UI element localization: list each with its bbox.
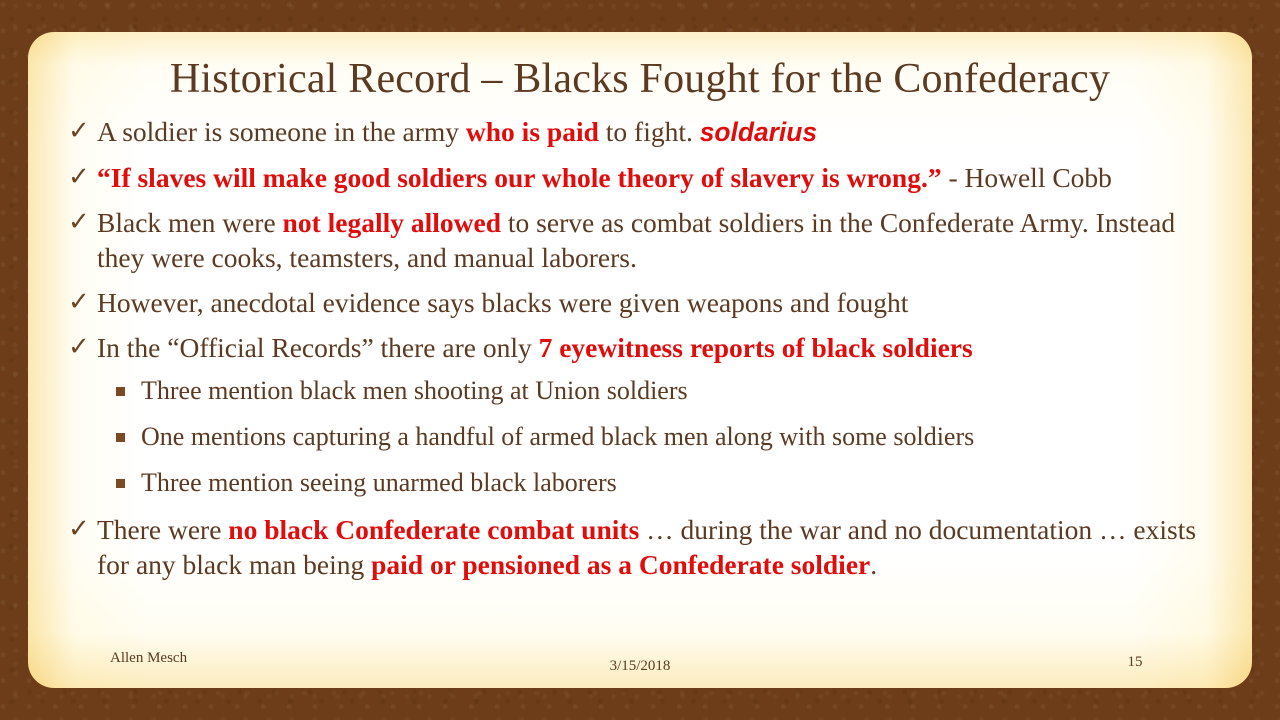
sub-bullet-item: Three mention seeing unarmed black labor… xyxy=(114,466,1218,500)
sub-bullet-label: One mentions capturing a handful of arme… xyxy=(141,422,974,451)
slide-body: ✓A soldier is someone in the army who is… xyxy=(68,114,1218,592)
footer-date: 3/15/2018 xyxy=(0,658,1280,675)
bullet-item-anecdotal-evidence: ✓However, anecdotal evidence says blacks… xyxy=(68,285,1218,320)
sub-bullet-label: Three mention seeing unarmed black labor… xyxy=(141,468,617,497)
bullet-item-not-legally-allowed: ✓Black men were not legally allowed to s… xyxy=(68,205,1218,275)
bullet-item-howell-cobb-quote: ✓“If slaves will make good soldiers our … xyxy=(68,160,1218,195)
checkmark-icon: ✓ xyxy=(68,159,90,194)
checkmark-icon: ✓ xyxy=(68,113,90,148)
bullet-item-no-combat-units: ✓There were no black Confederate combat … xyxy=(68,512,1218,582)
bullet-item-soldier-definition: ✓A soldier is someone in the army who is… xyxy=(68,114,1218,150)
slide-title: Historical Record – Blacks Fought for th… xyxy=(28,54,1252,104)
bullet-text-segment: There were xyxy=(97,514,228,545)
sub-bullet-item: One mentions capturing a handful of arme… xyxy=(114,420,1218,454)
bullet-text-segment: A soldier is someone in the army xyxy=(97,116,466,147)
square-bullet-icon xyxy=(116,387,125,396)
square-bullet-icon xyxy=(116,479,125,488)
slide-number: 15 xyxy=(1108,654,1162,671)
slide-content-panel: Historical Record – Blacks Fought for th… xyxy=(28,32,1252,688)
bullet-text-segment: Black men were xyxy=(97,207,283,238)
sub-bullet-label: Three mention black men shooting at Unio… xyxy=(141,376,688,405)
slide-canvas: Historical Record – Blacks Fought for th… xyxy=(0,0,1280,720)
bullet-highlight-segment: who is paid xyxy=(466,116,599,147)
checkmark-icon: ✓ xyxy=(68,511,90,546)
sub-bullet-item: Three mention black men shooting at Unio… xyxy=(114,374,1218,408)
bullet-quote-segment: “If slaves will make good soldiers our w… xyxy=(97,162,942,193)
bullet-item-official-records: ✓In the “Official Records” there are onl… xyxy=(68,330,1218,365)
checkmark-icon: ✓ xyxy=(68,329,90,364)
bullet-text-segment: to fight. xyxy=(599,116,700,147)
bullet-text-segment: However, anecdotal evidence says blacks … xyxy=(97,287,908,318)
checkmark-icon: ✓ xyxy=(68,284,90,319)
bullet-text-segment: In the “Official Records” there are only xyxy=(97,332,539,363)
bullet-highlight-segment: no black Confederate combat units xyxy=(228,514,639,545)
bullet-attribution-segment: - Howell Cobb xyxy=(942,162,1112,193)
square-bullet-icon xyxy=(116,433,125,442)
bullet-text-segment: . xyxy=(870,549,877,580)
checkmark-icon: ✓ xyxy=(68,204,90,239)
bullet-highlight-segment: paid or pensioned as a Confederate soldi… xyxy=(371,549,870,580)
bullet-highlight-segment: 7 eyewitness reports of black soldiers xyxy=(539,332,973,363)
bullet-highlight-segment: not legally allowed xyxy=(283,207,501,238)
bullet-latin-term: soldarius xyxy=(700,117,817,147)
